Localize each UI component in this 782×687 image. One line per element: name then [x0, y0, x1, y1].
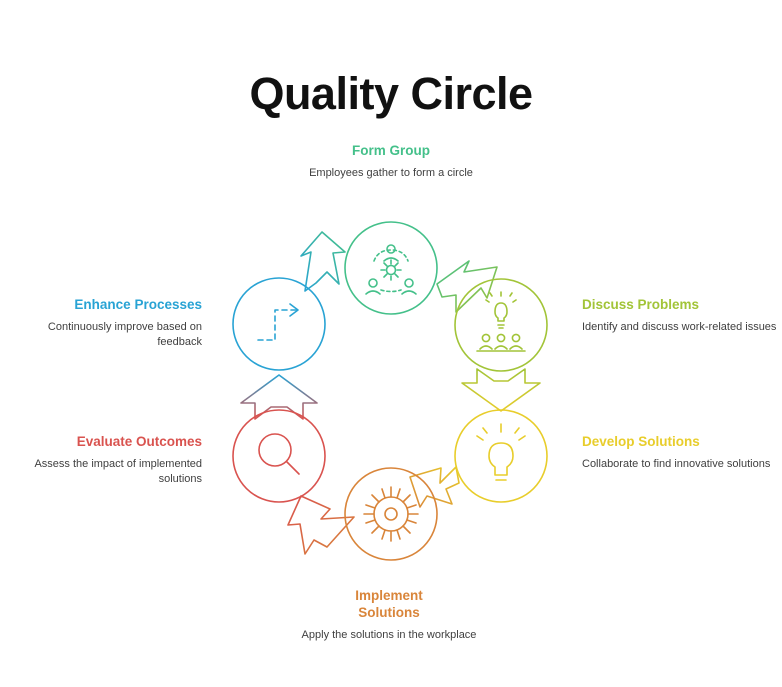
node-text-enhance-processes: Enhance Processes Continuously improve b… [4, 296, 202, 350]
arrow-implement-to-evaluate [288, 496, 354, 554]
lightbulb-icon [477, 424, 525, 480]
dashed-step-arrow-icon [258, 304, 298, 340]
group-collaboration-icon [366, 245, 416, 294]
arrow-evaluate-to-enhance [241, 375, 317, 419]
node-circle-form-group [345, 222, 437, 314]
node-title-discuss-problems: Discuss Problems [582, 296, 778, 313]
arrow-form-to-discuss [437, 261, 497, 312]
node-desc-form-group: Employees gather to form a circle [241, 166, 541, 181]
node-text-develop-solutions: Develop Solutions Collaborate to find in… [582, 433, 778, 472]
node-text-form-group: Form Group Employees gather to form a ci… [241, 142, 541, 181]
lightbulb-people-icon [477, 292, 525, 351]
node-title-implement-solutions: Implement Solutions [329, 587, 449, 621]
node-title-develop-solutions: Develop Solutions [582, 433, 778, 450]
node-circle-implement-solutions [345, 468, 437, 560]
node-desc-implement-solutions: Apply the solutions in the workplace [239, 628, 539, 643]
node-desc-enhance-processes: Continuously improve based on feedback [4, 320, 202, 350]
magnifier-icon [259, 434, 299, 474]
gear-icon [364, 487, 418, 541]
node-text-implement-solutions: Implement Solutions Apply the solutions … [239, 587, 539, 643]
node-title-enhance-processes: Enhance Processes [4, 296, 202, 313]
node-desc-evaluate-outcomes: Assess the impact of implemented solutio… [4, 457, 202, 487]
node-title-evaluate-outcomes: Evaluate Outcomes [4, 433, 202, 450]
quality-circle-diagram: Form Group Employees gather to form a ci… [0, 0, 782, 687]
node-text-discuss-problems: Discuss Problems Identify and discuss wo… [582, 296, 778, 335]
arrow-discuss-to-develop [462, 369, 540, 411]
node-text-evaluate-outcomes: Evaluate Outcomes Assess the impact of i… [4, 433, 202, 487]
node-title-form-group: Form Group [241, 142, 541, 159]
node-desc-develop-solutions: Collaborate to find innovative solutions [582, 457, 778, 472]
node-circle-evaluate-outcomes [233, 410, 325, 502]
node-circle-enhance-processes [233, 278, 325, 370]
arrow-enhance-to-form [301, 232, 345, 291]
node-desc-discuss-problems: Identify and discuss work-related issues [582, 320, 778, 335]
